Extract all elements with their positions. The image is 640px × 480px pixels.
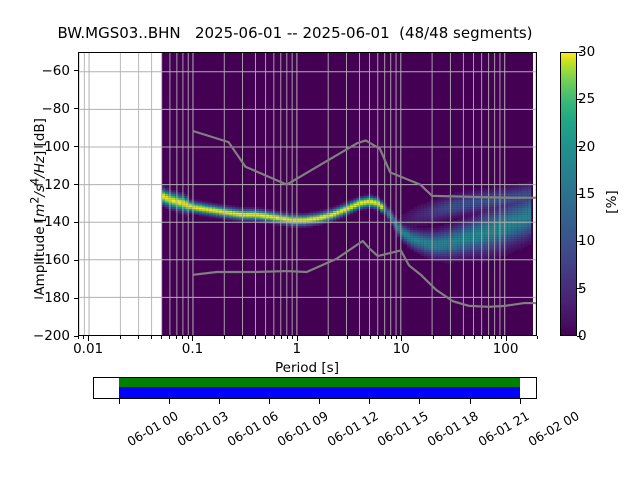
x-tickmark	[378, 336, 379, 339]
x-tickmark	[433, 336, 434, 339]
timeline-tickmark	[520, 399, 521, 404]
y-tickmark	[74, 298, 79, 299]
timeline-date-label: 06-01 21	[475, 408, 531, 449]
colorbar-tickmark	[577, 146, 582, 147]
x-tickmark	[255, 336, 256, 339]
timeline-date-label: 06-02 00	[525, 408, 581, 449]
timeline-date-label: 06-01 00	[124, 408, 180, 449]
timeline-date-label: 06-01 18	[425, 408, 481, 449]
x-tickmark	[537, 336, 538, 339]
ppsd-figure: BW.MGS03..BHN 2025-06-01 -- 2025-06-01 (…	[0, 0, 640, 480]
x-tick-label: 100	[493, 341, 519, 357]
colorbar-label: [%]	[604, 142, 620, 262]
timeline-tickmark	[419, 399, 420, 404]
y-tick-label: −60	[0, 63, 70, 79]
low-noise-model-line	[193, 241, 536, 307]
y-tickmark	[74, 260, 79, 261]
x-tickmark	[192, 336, 193, 341]
noise-model-curves	[79, 53, 536, 335]
x-tickmark	[401, 336, 402, 341]
y-tickmark	[74, 184, 79, 185]
x-tickmark	[489, 336, 490, 339]
y-tickmark	[74, 70, 79, 71]
timeline-date-label: 06-01 06	[224, 408, 280, 449]
y-tickmark	[74, 146, 79, 147]
x-tickmark	[78, 336, 79, 339]
x-tickmark	[83, 336, 84, 339]
timeline-date-label: 06-01 15	[375, 408, 431, 449]
x-tickmark	[328, 336, 329, 339]
x-tickmark	[138, 336, 139, 339]
figure-title: BW.MGS03..BHN 2025-06-01 -- 2025-06-01 (…	[0, 24, 590, 42]
x-tickmark	[274, 336, 275, 339]
timeline-date-label: 06-01 03	[174, 408, 230, 449]
x-tickmark	[297, 336, 298, 341]
colorbar-tickmark	[577, 241, 582, 242]
x-tickmark	[464, 336, 465, 339]
timeline-tickmark	[369, 399, 370, 404]
x-tickmark	[347, 336, 348, 339]
x-tickmark	[385, 336, 386, 339]
colorbar	[560, 52, 577, 336]
x-tickmark	[482, 336, 483, 339]
x-tickmark	[88, 336, 89, 341]
timeline-tickmark	[269, 399, 270, 404]
x-tickmark	[360, 336, 361, 339]
y-tick-label: −200	[0, 328, 70, 344]
x-tick-label: 1	[293, 341, 302, 357]
x-tickmark	[474, 336, 475, 339]
x-tickmark	[169, 336, 170, 339]
timeline-tickmark	[219, 399, 220, 404]
ppsd-axes	[78, 52, 537, 336]
high-noise-model-line	[193, 131, 536, 198]
x-tickmark	[292, 336, 293, 339]
y-tick-label: −160	[0, 252, 70, 268]
x-tickmark	[391, 336, 392, 339]
y-tickmark	[74, 336, 79, 337]
axes-clip	[79, 53, 536, 335]
x-tickmark	[287, 336, 288, 339]
x-tick-label: 10	[393, 341, 410, 357]
x-tickmark	[451, 336, 452, 339]
timeline-blue-bar	[119, 387, 520, 398]
timeline-date-label: 06-01 12	[325, 408, 381, 449]
y-tick-label: −80	[0, 101, 70, 117]
colorbar-tickmark	[577, 336, 582, 337]
x-tickmark	[281, 336, 282, 339]
x-tickmark	[188, 336, 189, 339]
timeline-tickmark	[470, 399, 471, 404]
x-tickmark	[495, 336, 496, 339]
timeline-tickmark	[319, 399, 320, 404]
y-tick-label: −120	[0, 177, 70, 193]
y-tickmark	[74, 108, 79, 109]
y-tick-label: −180	[0, 290, 70, 306]
x-tick-label: 0.1	[182, 341, 203, 357]
colorbar-tickmark	[577, 288, 582, 289]
x-tickmark	[224, 336, 225, 339]
colorbar-tickmark	[577, 194, 582, 195]
colorbar-tickmark	[577, 99, 582, 100]
timeline-green-bar	[119, 378, 520, 387]
timeline-tickmark	[119, 399, 120, 404]
colorbar-tickmark	[577, 52, 582, 53]
data-coverage-timeline	[93, 377, 537, 399]
timeline-date-label: 06-01 09	[275, 408, 331, 449]
x-tickmark	[370, 336, 371, 339]
timeline-tickmark	[169, 399, 170, 404]
x-tickmark	[176, 336, 177, 339]
x-tickmark	[161, 336, 162, 339]
x-tickmark	[120, 336, 121, 339]
x-tickmark	[182, 336, 183, 339]
x-tickmark	[151, 336, 152, 339]
x-tickmark	[242, 336, 243, 339]
x-tickmark	[265, 336, 266, 339]
y-tickmark	[74, 222, 79, 223]
x-tickmark	[396, 336, 397, 339]
y-tick-label: −100	[0, 139, 70, 155]
x-axis-label: Period [s]	[275, 360, 339, 376]
x-tickmark	[501, 336, 502, 339]
x-tickmark	[506, 336, 507, 341]
y-tick-label: −140	[0, 214, 70, 230]
x-tick-label: 0.01	[73, 341, 103, 357]
